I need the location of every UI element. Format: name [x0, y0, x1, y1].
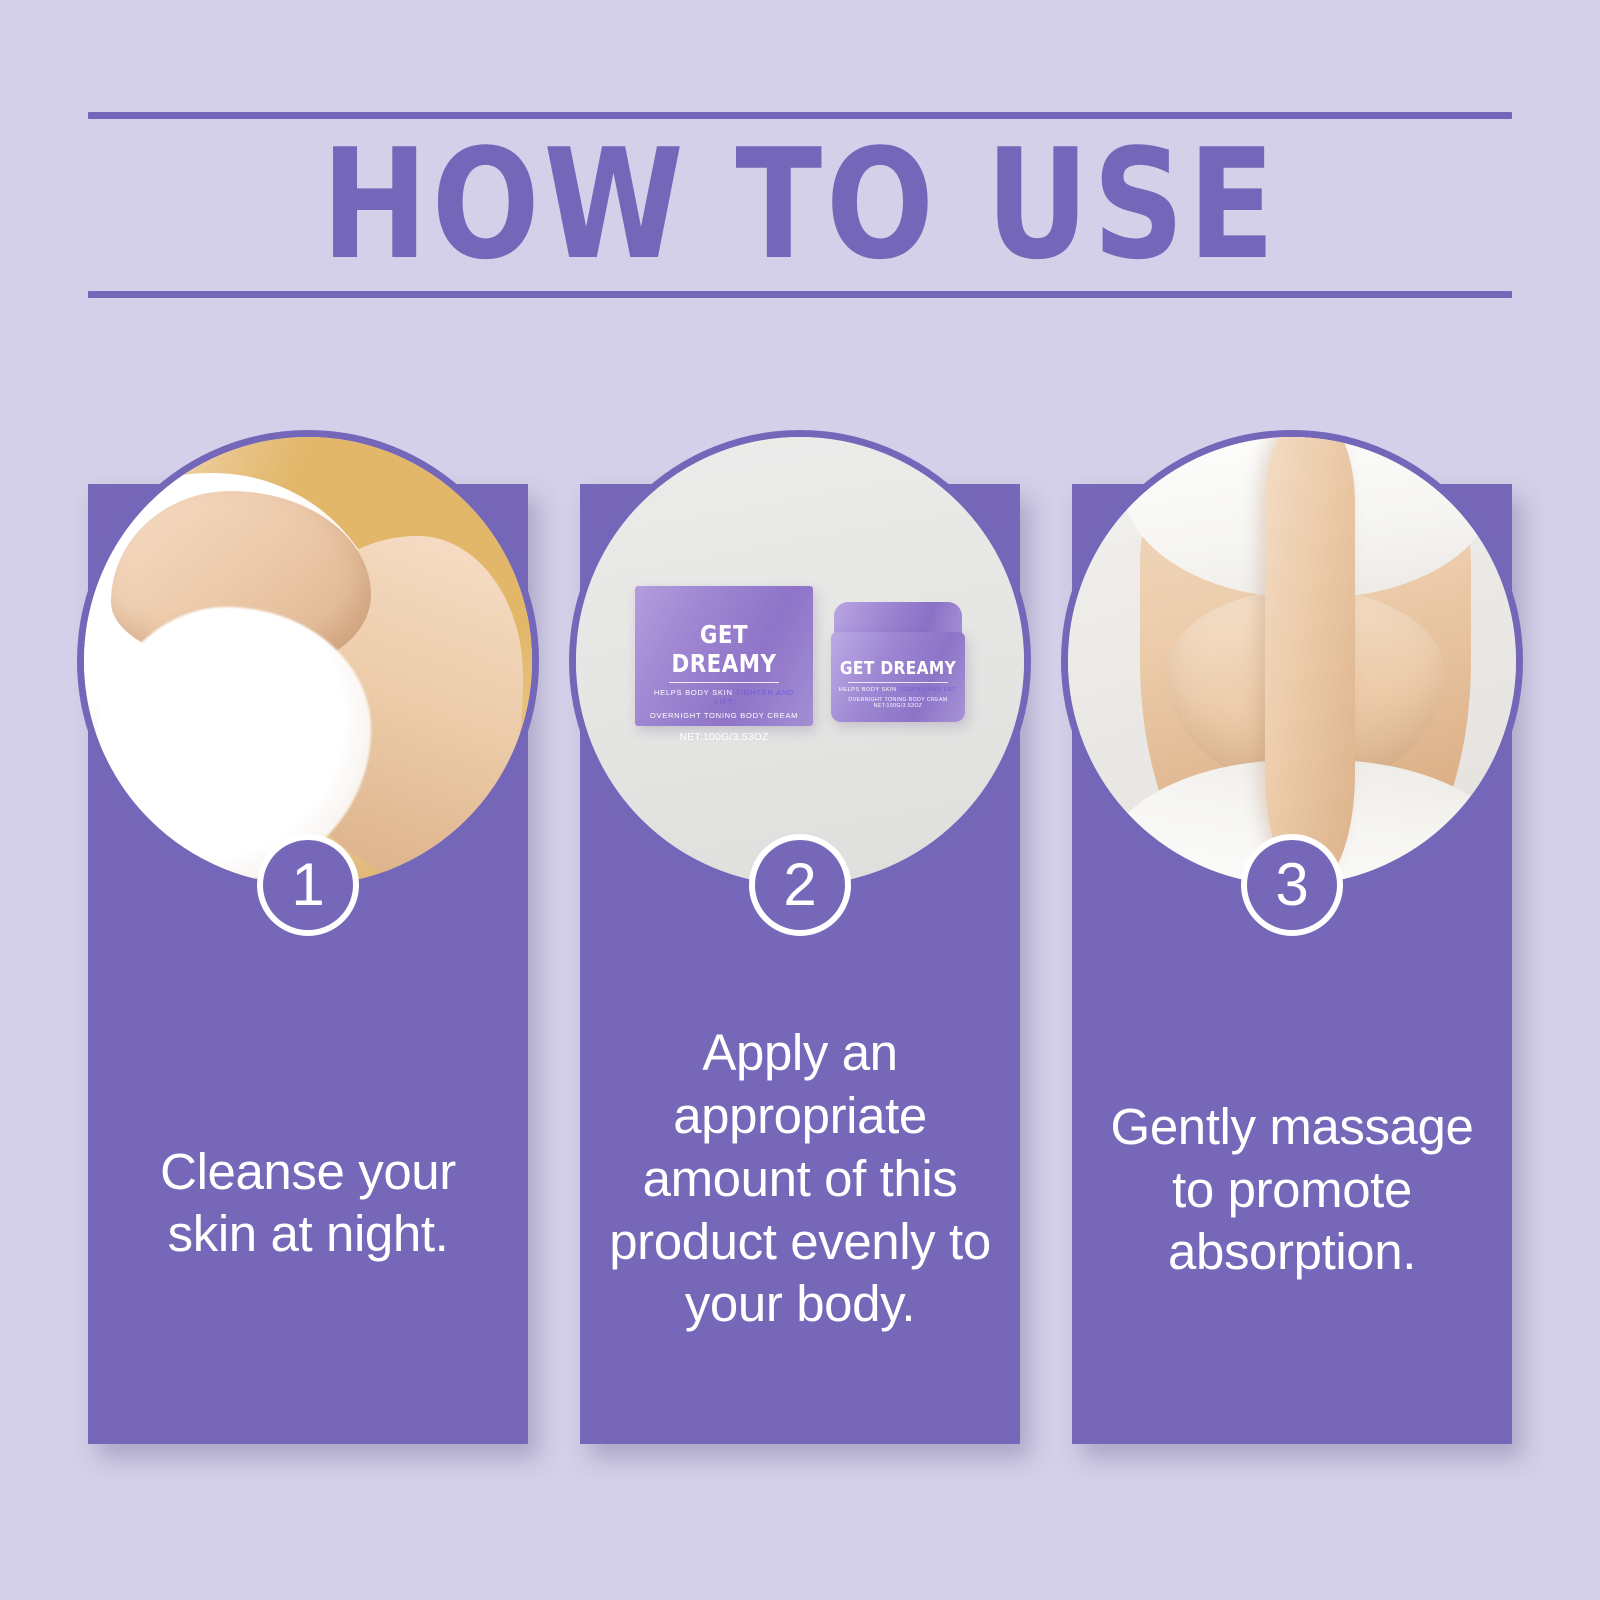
product-box: GET DREAMY HELPS BODY SKIN TIGHTEN AND L…	[635, 586, 813, 726]
arm-shape	[1265, 430, 1355, 885]
step-card-3: 3 Gently massage to promote absorption.	[1072, 484, 1512, 1444]
product-jar-tagline: HELPS BODY SKIN TIGHTEN AND LIFT	[831, 687, 965, 693]
step-card-1: 1 Cleanse your skin at night.	[88, 484, 528, 1444]
step-3-image-medallion	[1061, 430, 1523, 892]
step-2-image-medallion: GET DREAMY HELPS BODY SKIN TIGHTEN AND L…	[569, 430, 1031, 892]
step-card-2: GET DREAMY HELPS BODY SKIN TIGHTEN AND L…	[580, 484, 1020, 1444]
product-jar-subtitle: OVERNIGHT TONING BODY CREAM NET:100G/3.5…	[831, 697, 965, 709]
page-header: HOW TO USE	[88, 112, 1512, 298]
product-jar-tagline-accent: TIGHTEN AND LIFT	[899, 687, 958, 693]
step-caption-2: Apply an appropriate amount of this prod…	[602, 1022, 998, 1336]
step-caption-1: Cleanse your skin at night.	[110, 1141, 506, 1266]
product-jar-tagline-plain: HELPS BODY SKIN	[839, 687, 897, 693]
page-title: HOW TO USE	[138, 112, 1462, 298]
product-box-divider	[669, 682, 780, 683]
product-box-subtitle: OVERNIGHT TONING BODY CREAM	[645, 711, 803, 720]
massaging-torso-photo	[1068, 437, 1516, 885]
steps-container: 1 Cleanse your skin at night. GET DREAMY…	[88, 484, 1512, 1444]
product-jar-brand: GET DREAMY	[834, 658, 961, 679]
product-jar: GET DREAMY HELPS BODY SKIN TIGHTEN AND L…	[831, 602, 965, 722]
product-box-tagline-plain: HELPS BODY SKIN	[654, 688, 733, 697]
step-number-badge-2: 2	[749, 834, 851, 936]
step-1-image-medallion	[77, 430, 539, 892]
product-jar-divider	[848, 682, 947, 683]
product-box-brand: GET DREAMY	[649, 620, 799, 678]
product-box-tagline: HELPS BODY SKIN TIGHTEN AND LIFT	[645, 688, 803, 706]
product-box-and-jar-photo: GET DREAMY HELPS BODY SKIN TIGHTEN AND L…	[576, 437, 1024, 885]
hand-shape	[111, 491, 371, 670]
step-caption-3: Gently massage to promote absorption.	[1094, 1096, 1490, 1284]
step-number-badge-1: 1	[257, 834, 359, 936]
step-number-badge-3: 3	[1241, 834, 1343, 936]
product-jar-body: GET DREAMY HELPS BODY SKIN TIGHTEN AND L…	[831, 632, 965, 722]
product-group: GET DREAMY HELPS BODY SKIN TIGHTEN AND L…	[635, 586, 965, 736]
foam-cleansing-shoulder-photo	[84, 437, 532, 885]
title-rule-bottom	[88, 291, 1512, 298]
product-box-net-weight: NET:100G/3.53OZ	[645, 731, 803, 743]
